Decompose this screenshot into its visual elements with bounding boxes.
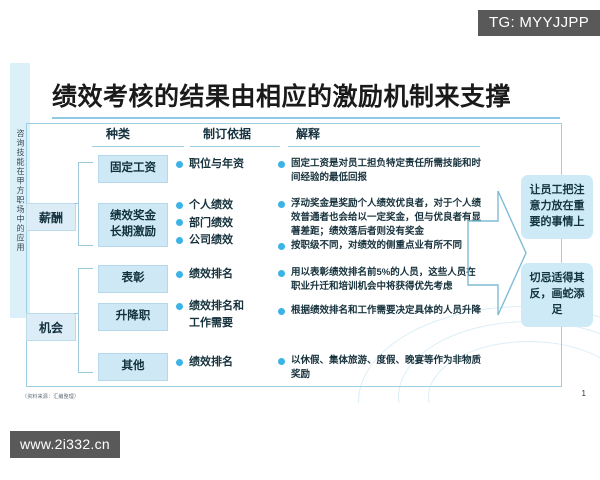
- row-kind-label: 其他: [122, 359, 145, 375]
- explanation-item: 根据绩效排名和工作需要决定具体的人员升降: [278, 304, 483, 318]
- row-basis-list: 绩效排名和 工作需要: [176, 298, 276, 332]
- group-brace-stem: [74, 203, 79, 204]
- row-explanation-list: 以休假、集体旅游、度假、晚宴等作为非物质奖励: [278, 354, 483, 383]
- row-kind-label-line2: 长期激励: [110, 225, 156, 241]
- row-kind-label: 绩效奖金: [110, 209, 156, 225]
- slide-canvas: 咨询技能在甲方职场中的应用 绩效考核的结果由相应的激励机制来支撑 种类 制订依据…: [0, 55, 600, 403]
- group-brace-stem: [74, 313, 79, 314]
- right-arrow-icon: [466, 183, 528, 323]
- row-explanation-list: 根据绩效排名和工作需要决定具体的人员升降: [278, 304, 483, 319]
- row-explanation-list: 固定工资是对员工担负特定责任所需技能和时间经验的最低回报: [278, 157, 483, 186]
- row-kind-chip: 升降职: [98, 303, 168, 331]
- row-basis-list: 职位与年资: [176, 156, 276, 174]
- row-kind-label: 升降职: [116, 309, 151, 325]
- telegram-watermark-badge: TG: MYYJJPP: [478, 10, 600, 36]
- table-header-row: 种类 制订依据 解释: [80, 125, 480, 147]
- callout-box-caution: 切忌适得其反，画蛇添足: [521, 263, 593, 327]
- row-kind-chip: 固定工资: [98, 155, 168, 183]
- basis-item: 绩效排名和 工作需要: [176, 298, 276, 331]
- slide-title: 绩效考核的结果由相应的激励机制来支撑: [52, 77, 511, 113]
- basis-item: 部门绩效: [176, 215, 276, 232]
- side-tab-label: 咨询技能在甲方职场中的应用: [16, 129, 24, 253]
- row-kind-chip: 表彰: [98, 265, 168, 293]
- row-kind-chip: 绩效奖金 长期激励: [98, 203, 168, 247]
- explanation-item: 以休假、集体旅游、度假、晚宴等作为非物质奖励: [278, 354, 483, 382]
- header-rule: [190, 146, 280, 147]
- row-kind-chip: 其他: [98, 353, 168, 381]
- row-kind-label: 固定工资: [110, 161, 156, 177]
- explanation-item: 浮动奖金是奖励个人绩效优良者，对于个人绩效普通者也会给以一定奖金，但与优良者有显…: [278, 197, 483, 238]
- column-header-kind: 种类: [106, 125, 130, 142]
- row-basis-list: 绩效排名: [176, 354, 276, 372]
- row-explanation-list: 用以表彰绩效排名前5%的人员，这些人员在职业升迁和培训机会中将获得优先考虑: [278, 266, 483, 295]
- basis-item: 个人绩效: [176, 197, 276, 214]
- callout-box-focus: 让员工把注意力放在重要的事情上: [521, 175, 593, 239]
- explanation-item: 按职级不同，对绩效的侧重点业有所不同: [278, 239, 483, 253]
- row-basis-list: 绩效排名: [176, 266, 276, 284]
- basis-item-line1: 绩效排名和: [189, 300, 244, 312]
- row-basis-list: 个人绩效 部门绩效 公司绩效: [176, 197, 276, 250]
- column-header-explanation: 解释: [296, 125, 320, 142]
- header-rule: [288, 146, 480, 147]
- row-kind-label: 表彰: [122, 271, 145, 287]
- basis-item: 职位与年资: [176, 156, 276, 173]
- column-header-basis: 制订依据: [203, 125, 251, 142]
- title-divider: [52, 117, 560, 119]
- basis-item: 绩效排名: [176, 354, 276, 371]
- group-label-opportunity: 机会: [26, 313, 76, 341]
- website-watermark-badge: www.2i332.cn: [10, 431, 120, 458]
- group-label-compensation: 薪酬: [26, 203, 76, 231]
- basis-item: 绩效排名: [176, 266, 276, 283]
- basis-item: 公司绩效: [176, 232, 276, 249]
- basis-item-line2: 工作需要: [189, 317, 233, 329]
- explanation-item: 用以表彰绩效排名前5%的人员，这些人员在职业升迁和培训机会中将获得优先考虑: [278, 266, 483, 294]
- page-number: 1: [582, 389, 586, 398]
- source-note: （资料来源：汇编整理）: [22, 393, 79, 400]
- explanation-item: 固定工资是对员工担负特定责任所需技能和时间经验的最低回报: [278, 157, 483, 185]
- matrix-table: 种类 制订依据 解释 薪酬 机会 固定工资 职位与年资 固定工资是对员工担负特定…: [80, 125, 480, 147]
- row-explanation-list: 浮动奖金是奖励个人绩效优良者，对于个人绩效普通者也会给以一定奖金，但与优良者有显…: [278, 197, 483, 254]
- header-rule: [92, 146, 184, 147]
